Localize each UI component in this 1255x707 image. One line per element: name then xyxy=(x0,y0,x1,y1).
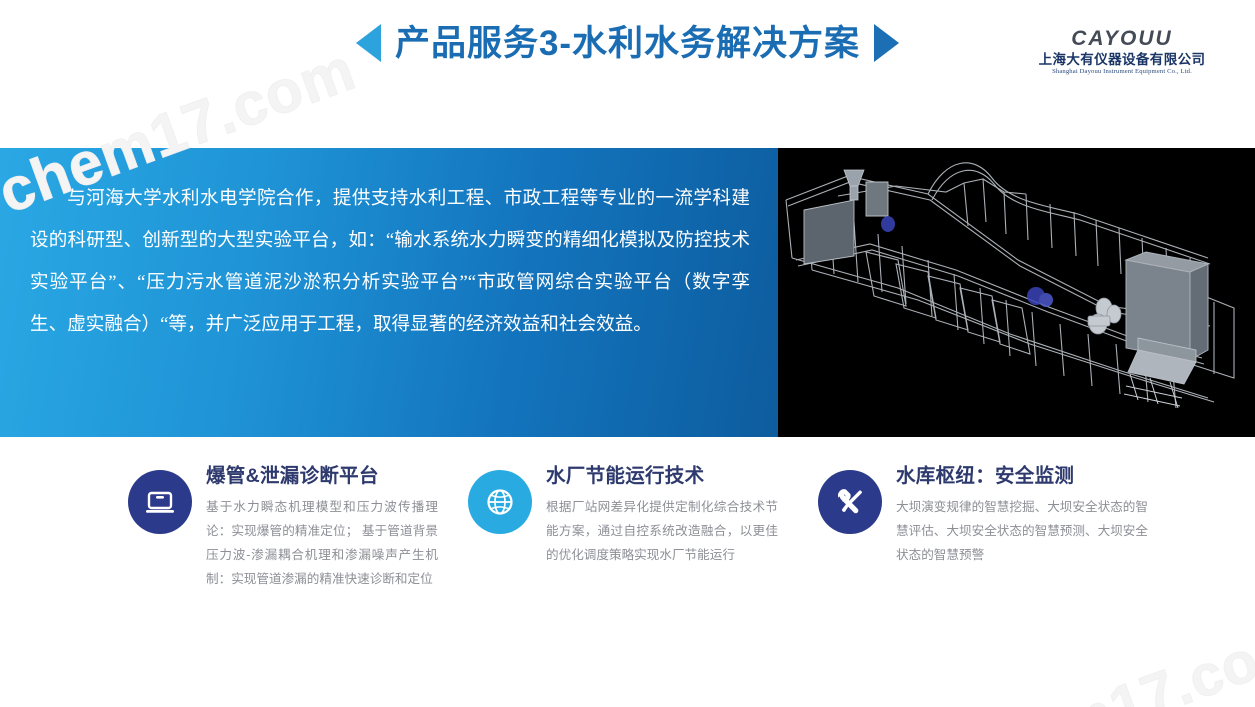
feature-card-list: 爆管&泄漏诊断平台 基于水力瞬态机理模型和压力波传播理论：实现爆管的精准定位； … xyxy=(0,462,1255,662)
wrench-screwdriver-glyph xyxy=(832,484,868,520)
company-logo: CAYOUU 上海大有仪器设备有限公司 Shanghai Dayouu Inst… xyxy=(1027,28,1217,75)
logo-company-en: Shanghai Dayouu Instrument Equipment Co.… xyxy=(1027,68,1217,75)
card-description: 基于水力瞬态机理模型和压力波传播理论：实现爆管的精准定位； 基于管道背景压力波-… xyxy=(206,495,438,591)
card-title: 水厂节能运行技术 xyxy=(546,464,778,488)
card-body: 爆管&泄漏诊断平台 基于水力瞬态机理模型和压力波传播理论：实现爆管的精准定位； … xyxy=(206,462,438,591)
logo-company-cn: 上海大有仪器设备有限公司 xyxy=(1027,53,1217,68)
globe-icon xyxy=(468,470,532,534)
hero-text-panel: 与河海大学水利水电学院合作，提供支持水利工程、市政工程等专业的一流学科建设的科研… xyxy=(0,148,778,437)
hero-paragraph: 与河海大学水利水电学院合作，提供支持水利工程、市政工程等专业的一流学科建设的科研… xyxy=(30,178,750,346)
feature-card-burst-pipe[interactable]: 爆管&泄漏诊断平台 基于水力瞬态机理模型和压力波传播理论：实现爆管的精准定位； … xyxy=(128,462,438,591)
page-title: 产品服务3-水利水务解决方案 xyxy=(395,26,860,61)
hero-image-3d-platform xyxy=(778,148,1255,437)
slide-header: 产品服务3-水利水务解决方案 CAYOUU 上海大有仪器设备有限公司 Shang… xyxy=(0,0,1255,115)
slide-page: chem17.com chem17.com 产品服务3-水利水务解决方案 CAY… xyxy=(0,0,1255,707)
logo-wordmark: CAYOUU xyxy=(1027,28,1217,51)
hero-band: 与河海大学水利水电学院合作，提供支持水利工程、市政工程等专业的一流学科建设的科研… xyxy=(0,148,1255,437)
tools-icon xyxy=(818,470,882,534)
pipeline-rig-render-icon xyxy=(778,148,1255,437)
feature-card-reservoir-safety[interactable]: 水库枢纽：安全监测 大坝演变规律的智慧挖掘、大坝安全状态的智慧评估、大坝安全状态… xyxy=(818,462,1148,567)
card-title: 爆管&泄漏诊断平台 xyxy=(206,464,438,488)
card-description: 根据厂站网差异化提供定制化综合技术节能方案，通过自控系统改造融合，以更佳的优化调… xyxy=(546,495,778,567)
left-triangle-icon xyxy=(356,24,381,62)
right-triangle-icon xyxy=(874,24,899,62)
laptop-icon xyxy=(128,470,192,534)
card-title: 水库枢纽：安全监测 xyxy=(896,464,1148,488)
card-description: 大坝演变规律的智慧挖掘、大坝安全状态的智慧评估、大坝安全状态的智慧预测、大坝安全… xyxy=(896,495,1148,567)
feature-card-plant-energy[interactable]: 水厂节能运行技术 根据厂站网差异化提供定制化综合技术节能方案，通过自控系统改造融… xyxy=(468,462,778,567)
laptop-glyph xyxy=(143,485,177,519)
card-body: 水库枢纽：安全监测 大坝演变规律的智慧挖掘、大坝安全状态的智慧评估、大坝安全状态… xyxy=(896,462,1148,567)
card-body: 水厂节能运行技术 根据厂站网差异化提供定制化综合技术节能方案，通过自控系统改造融… xyxy=(546,462,778,567)
globe-glyph xyxy=(483,485,517,519)
